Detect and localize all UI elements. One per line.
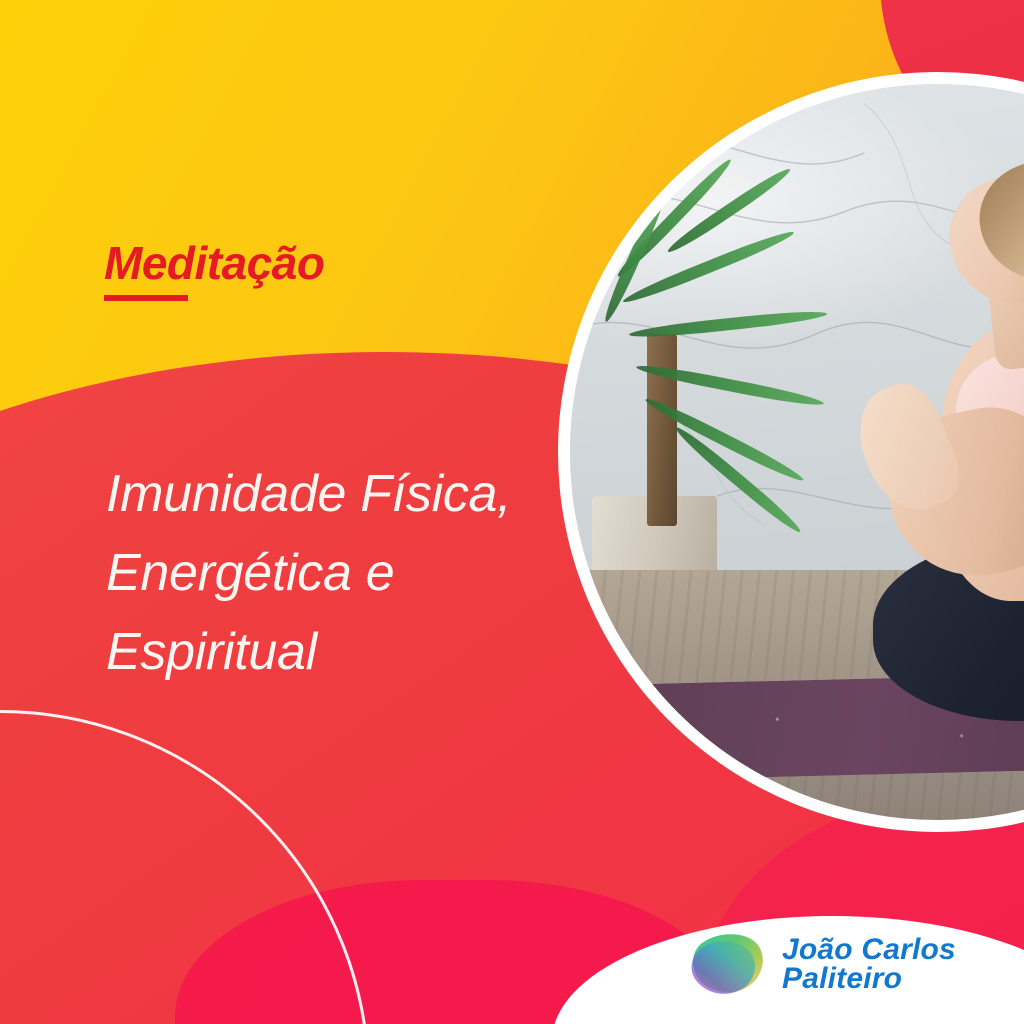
organic-blob-logomark-icon [688,928,768,1000]
page-title: Meditação [104,240,324,286]
photo-circle-frame [558,72,1024,832]
brand-name: João Carlos Paliteiro [782,935,956,994]
photo-plant-trunk [647,334,676,525]
meditation-photo [570,84,1024,820]
headline-text: Imunidade Física, Energética e Espiritua… [106,455,576,692]
brand-name-line-1: João Carlos [782,935,956,964]
title-underline [104,295,188,301]
eyebrow-group: Meditação [104,240,324,301]
brand-logo[interactable]: João Carlos Paliteiro [688,928,956,1000]
photo-person [864,158,1024,791]
brand-name-line-2: Paliteiro [782,964,956,993]
poster-canvas: Meditação Imunidade Física, Energética e… [0,0,1024,1024]
